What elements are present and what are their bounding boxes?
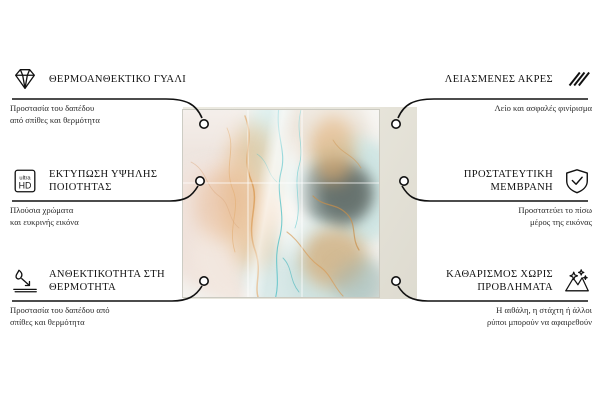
hd-label: HD bbox=[19, 180, 32, 190]
desc-line-2: ρύποι μπορούν να αφαιρεθούν bbox=[406, 317, 592, 329]
desc-line-2: και ευκρινής εικόνα bbox=[10, 217, 196, 229]
feature-high-quality-print: ultra HD ΕΚΤΥΠΩΣΗ ΥΨΗΛΗΣ ΠΟΙΟΤΗΤΑΣ Πλούσ… bbox=[10, 164, 196, 228]
feature-protective-film: ΠΡΟΣΤΑΤΕΥΤΙΚΗ ΜΕΜΒΡΑΝΗ Προστατεύει το πί… bbox=[406, 164, 592, 228]
desc-line-2: μέρος της εικόνας bbox=[406, 217, 592, 229]
feature-description: Η αιθάλη, η στάχτη ή άλλοι ρύποι μπορούν… bbox=[406, 305, 592, 328]
glass-gloss bbox=[183, 110, 379, 297]
flame-deflect-icon bbox=[10, 267, 40, 295]
feature-description: Προστατεύει το πίσω μέρος της εικόνας bbox=[406, 205, 592, 228]
feature-header: ΑΝΘΕΚΤΙΚΟΤΗΤΑ ΣΤΗ ΘΕΡΜΟΤΗΤΑ bbox=[10, 264, 196, 298]
feature-title: ΘΕΡΜΟΑΝΘΕΚΤΙΚΟ ΓΥΑΛΙ bbox=[49, 73, 186, 86]
ultra-hd-icon: ultra HD bbox=[10, 167, 40, 195]
desc-line-1: Λείο και ασφαλές φινίρισμα bbox=[406, 103, 592, 115]
feature-easy-cleaning: ΚΑΘΑΡΙΣΜΟΣ ΧΩΡΙΣ ΠΡΟΒΛΗΜΑΤΑ Η αιθάλη, η … bbox=[406, 264, 592, 328]
desc-line-1: Η αιθάλη, η στάχτη ή άλλοι bbox=[406, 305, 592, 317]
feature-description: Πλούσια χρώματα και ευκρινής εικόνα bbox=[10, 205, 196, 228]
desc-line-1: Προστασία του δαπέδου από bbox=[10, 305, 196, 317]
feature-heat-resistant-glass: ΘΕΡΜΟΑΝΘΕΚΤΙΚΟ ΓΥΑΛΙ Προστασία του δαπέδ… bbox=[10, 62, 196, 126]
infographic-root: ΘΕΡΜΟΑΝΘΕΚΤΙΚΟ ΓΥΑΛΙ Προστασία του δαπέδ… bbox=[0, 0, 600, 400]
diagonal-lines-icon bbox=[562, 65, 592, 93]
desc-line-2: από σπίθες και θερμότητα bbox=[10, 115, 196, 127]
feature-description: Προστασία του δαπέδου από σπίθες και θερ… bbox=[10, 305, 196, 328]
feature-title: ΠΡΟΣΤΑΤΕΥΤΙΚΗ ΜΕΜΒΡΑΝΗ bbox=[406, 168, 553, 194]
desc-line-1: Προστασία του δαπέδου bbox=[10, 103, 196, 115]
glass-panel bbox=[183, 110, 379, 297]
feature-header: ΘΕΡΜΟΑΝΘΕΚΤΙΚΟ ΓΥΑΛΙ bbox=[10, 62, 196, 96]
product-image bbox=[183, 107, 417, 299]
feature-polished-edges: ΛΕΙΑΣΜΕΝΕΣ ΑΚΡΕΣ Λείο και ασφαλές φινίρι… bbox=[406, 62, 592, 115]
feature-description: Λείο και ασφαλές φινίρισμα bbox=[406, 103, 592, 115]
feature-description: Προστασία του δαπέδου από σπίθες και θερ… bbox=[10, 103, 196, 126]
feature-header: ΚΑΘΑΡΙΣΜΟΣ ΧΩΡΙΣ ΠΡΟΒΛΗΜΑΤΑ bbox=[406, 264, 592, 298]
desc-line-1: Προστατεύει το πίσω bbox=[406, 205, 592, 217]
feature-title: ΚΑΘΑΡΙΣΜΟΣ ΧΩΡΙΣ ΠΡΟΒΛΗΜΑΤΑ bbox=[406, 268, 553, 294]
feature-header: ΛΕΙΑΣΜΕΝΕΣ ΑΚΡΕΣ bbox=[406, 62, 592, 96]
desc-line-2: σπίθες και θερμότητα bbox=[10, 317, 196, 329]
shield-check-icon bbox=[562, 167, 592, 195]
feature-title: ΕΚΤΥΠΩΣΗ ΥΨΗΛΗΣ ΠΟΙΟΤΗΤΑΣ bbox=[49, 168, 196, 194]
feature-header: ΠΡΟΣΤΑΤΕΥΤΙΚΗ ΜΕΜΒΡΑΝΗ bbox=[406, 164, 592, 198]
feature-title: ΛΕΙΑΣΜΕΝΕΣ ΑΚΡΕΣ bbox=[445, 73, 553, 86]
diamond-icon bbox=[10, 65, 40, 93]
feature-header: ultra HD ΕΚΤΥΠΩΣΗ ΥΨΗΛΗΣ ΠΟΙΟΤΗΤΑΣ bbox=[10, 164, 196, 198]
feature-title: ΑΝΘΕΚΤΙΚΟΤΗΤΑ ΣΤΗ ΘΕΡΜΟΤΗΤΑ bbox=[49, 268, 196, 294]
sparkle-clean-icon bbox=[562, 267, 592, 295]
feature-heat-durability: ΑΝΘΕΚΤΙΚΟΤΗΤΑ ΣΤΗ ΘΕΡΜΟΤΗΤΑ Προστασία το… bbox=[10, 264, 196, 328]
desc-line-1: Πλούσια χρώματα bbox=[10, 205, 196, 217]
